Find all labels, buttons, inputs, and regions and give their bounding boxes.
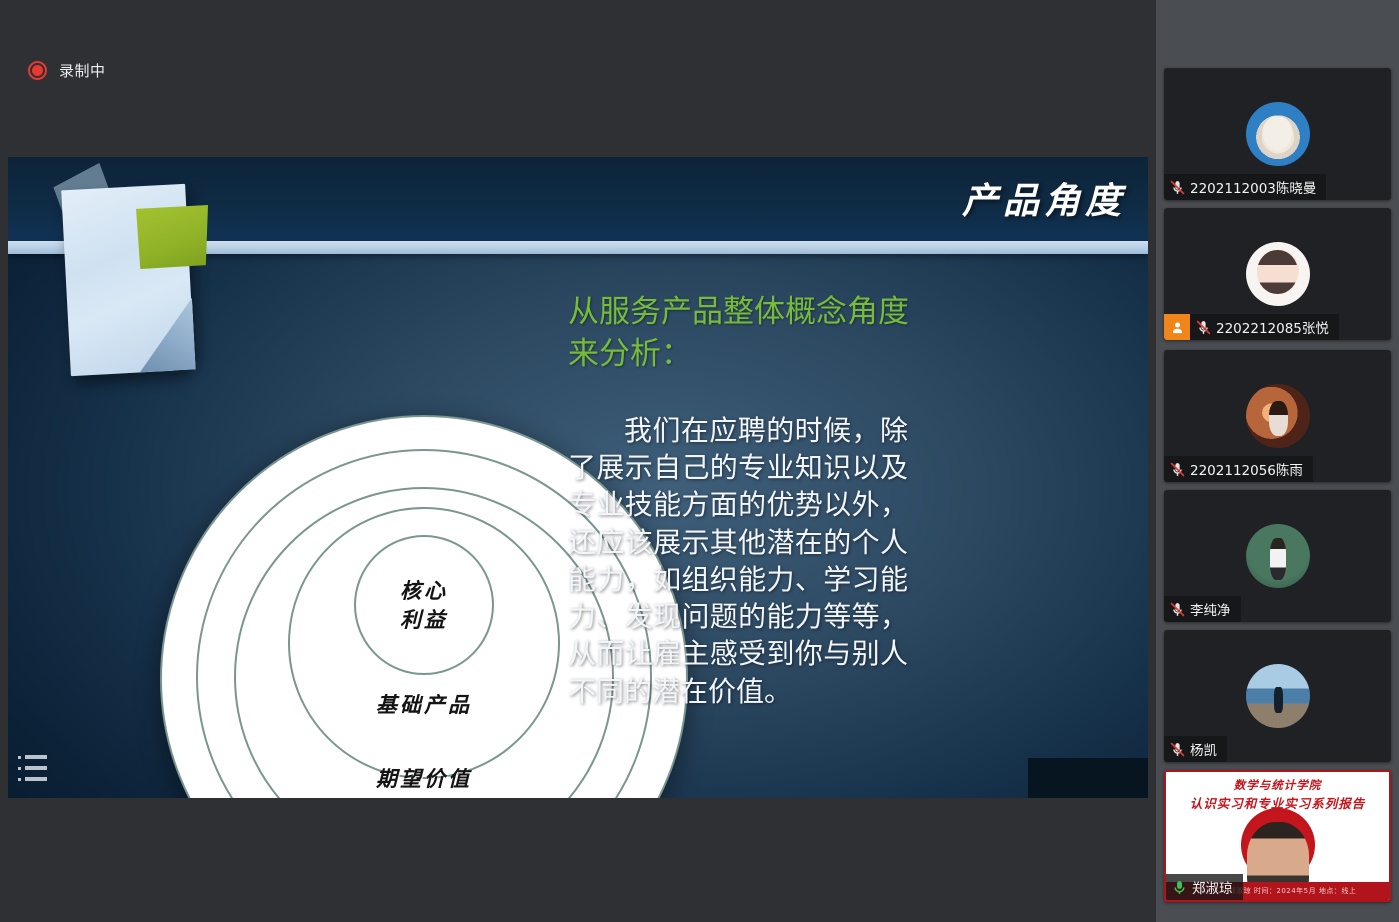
record-dot-icon bbox=[28, 61, 47, 80]
recording-label: 录制中 bbox=[59, 60, 106, 81]
mic-active-icon[interactable] bbox=[1166, 879, 1192, 896]
participant-tile[interactable]: 2202112003陈晓曼 bbox=[1164, 68, 1391, 200]
avatar bbox=[1246, 384, 1310, 448]
nameplate: 杨凯 bbox=[1164, 736, 1227, 762]
nameplate: 李纯净 bbox=[1164, 596, 1241, 622]
participant-name: 郑淑琼 bbox=[1192, 877, 1233, 897]
participant-name: 2202212085张悦 bbox=[1216, 317, 1329, 337]
participant-tile[interactable]: 2202212085张悦 bbox=[1164, 208, 1391, 340]
nameplate: 2202112056陈雨 bbox=[1164, 456, 1313, 482]
label-core-benefit: 核心 利益 bbox=[160, 577, 688, 635]
mic-muted-icon[interactable] bbox=[1164, 601, 1190, 618]
nameplate: 2202112003陈晓曼 bbox=[1164, 174, 1326, 200]
avatar bbox=[1246, 242, 1310, 306]
slide-body-text: 我们在应聘的时候，除了展示自己的专业知识以及专业技能方面的优势以外，还应该展示其… bbox=[568, 412, 908, 710]
paper-decoration bbox=[38, 169, 228, 384]
stage-letterbox bbox=[0, 798, 1156, 922]
zoom-meeting-window: 录制中 产品角度 核心 bbox=[0, 0, 1399, 922]
participant-tile[interactable]: 2202112056陈雨 bbox=[1164, 350, 1391, 482]
recording-bar: 录制中 bbox=[0, 0, 1156, 157]
participant-tile-presenter[interactable]: 数学与统计学院 认识实习和专业实习系列报告 主讲人：郑淑琼 时间：2024年5月… bbox=[1164, 770, 1391, 902]
list-icon[interactable] bbox=[16, 752, 50, 784]
slide-corner-overlay bbox=[1028, 758, 1148, 798]
avatar bbox=[1246, 102, 1310, 166]
label-core-line1: 核心 bbox=[160, 577, 688, 606]
mic-muted-icon[interactable] bbox=[1164, 741, 1190, 758]
mic-muted-icon[interactable] bbox=[1164, 179, 1190, 196]
label-basic-product: 基础产品 bbox=[160, 689, 688, 719]
participant-filmstrip[interactable]: 2202112003陈晓曼 2202212085张悦 bbox=[1156, 0, 1399, 922]
participant-tile[interactable]: 李纯净 bbox=[1164, 490, 1391, 622]
label-expected-value: 期望价值 bbox=[160, 763, 688, 793]
avatar bbox=[1246, 664, 1310, 728]
mic-muted-icon[interactable] bbox=[1190, 319, 1216, 336]
participant-name: 李纯净 bbox=[1190, 599, 1231, 619]
participant-tile[interactable]: 杨凯 bbox=[1164, 630, 1391, 762]
recording-indicator[interactable]: 录制中 bbox=[28, 60, 106, 81]
nameplate: 郑淑琼 bbox=[1166, 874, 1243, 900]
presentation-slide[interactable]: 产品角度 核心 利益 基础产品 期望价值 bbox=[8, 157, 1148, 798]
mic-muted-icon[interactable] bbox=[1164, 461, 1190, 478]
slide-title: 产品角度 bbox=[962, 172, 1126, 224]
shared-screen-stage: 录制中 产品角度 核心 bbox=[0, 0, 1156, 922]
host-badge-icon bbox=[1164, 314, 1190, 340]
slide-heading-text: 从服务产品整体概念角度来分析： bbox=[568, 292, 928, 375]
avatar bbox=[1246, 524, 1310, 588]
label-core-line2: 利益 bbox=[160, 606, 688, 635]
presenter-slide-title-line1: 数学与统计学院 bbox=[1166, 777, 1389, 793]
participant-name: 2202112056陈雨 bbox=[1190, 459, 1303, 479]
participant-name: 杨凯 bbox=[1190, 739, 1217, 759]
sticky-note-icon bbox=[136, 205, 208, 269]
participant-name: 2202112003陈晓曼 bbox=[1190, 177, 1316, 197]
nameplate: 2202212085张悦 bbox=[1164, 314, 1339, 340]
